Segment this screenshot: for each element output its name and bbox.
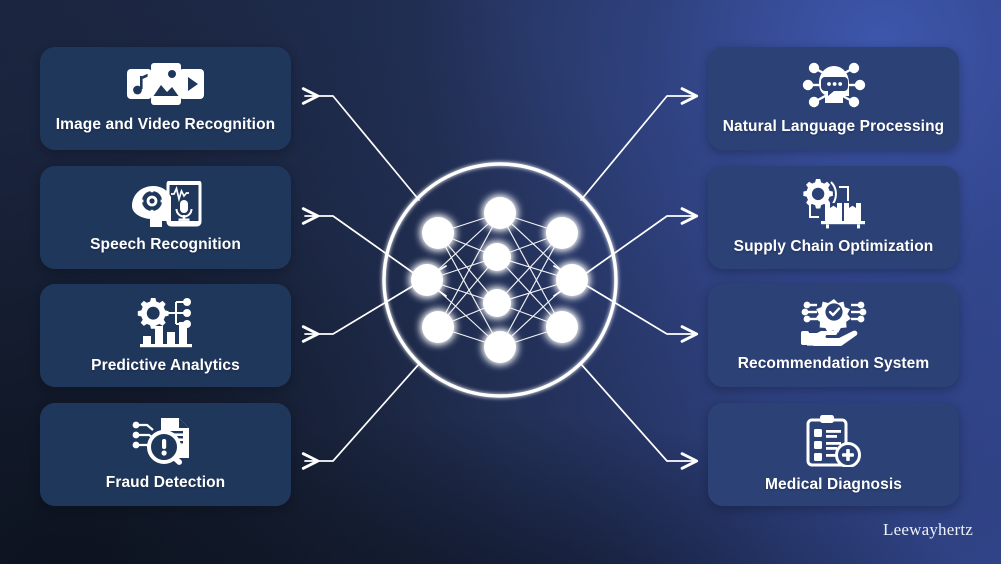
- brand-wordmark: Leewayhertz: [883, 520, 973, 540]
- speech-recognition-icon: [130, 181, 202, 227]
- card-label: Fraud Detection: [106, 474, 225, 492]
- card-medical-diagnosis[interactable]: Medical Diagnosis: [708, 403, 959, 506]
- predictive-analytics-icon: [134, 296, 198, 348]
- card-predictive-analytics[interactable]: Predictive Analytics: [40, 284, 291, 387]
- card-label: Speech Recognition: [90, 236, 241, 254]
- neural-network-graphic: [375, 155, 625, 405]
- card-recommendation-system[interactable]: Recommendation System: [708, 284, 959, 387]
- recommendation-icon: [801, 298, 867, 346]
- image-video-icon: [127, 63, 205, 107]
- card-label: Image and Video Recognition: [56, 116, 275, 134]
- card-label: Natural Language Processing: [723, 118, 944, 136]
- card-speech-recognition[interactable]: Speech Recognition: [40, 166, 291, 269]
- card-natural-language-processing[interactable]: Natural Language Processing: [708, 47, 959, 150]
- nlp-icon: [801, 61, 867, 109]
- card-label: Recommendation System: [738, 355, 930, 373]
- card-fraud-detection[interactable]: Fraud Detection: [40, 403, 291, 506]
- fraud-detection-icon: [131, 417, 201, 465]
- card-label: Supply Chain Optimization: [734, 238, 934, 256]
- card-label: Predictive Analytics: [91, 357, 240, 375]
- card-image-video-recognition[interactable]: Image and Video Recognition: [40, 47, 291, 150]
- card-label: Medical Diagnosis: [765, 476, 902, 494]
- supply-chain-icon: [797, 179, 871, 229]
- card-supply-chain-optimization[interactable]: Supply Chain Optimization: [708, 166, 959, 269]
- network-nodes: [411, 197, 588, 363]
- diagram-canvas: Image and Video Recognition: [0, 0, 1001, 564]
- medical-diagnosis-icon: [806, 415, 862, 467]
